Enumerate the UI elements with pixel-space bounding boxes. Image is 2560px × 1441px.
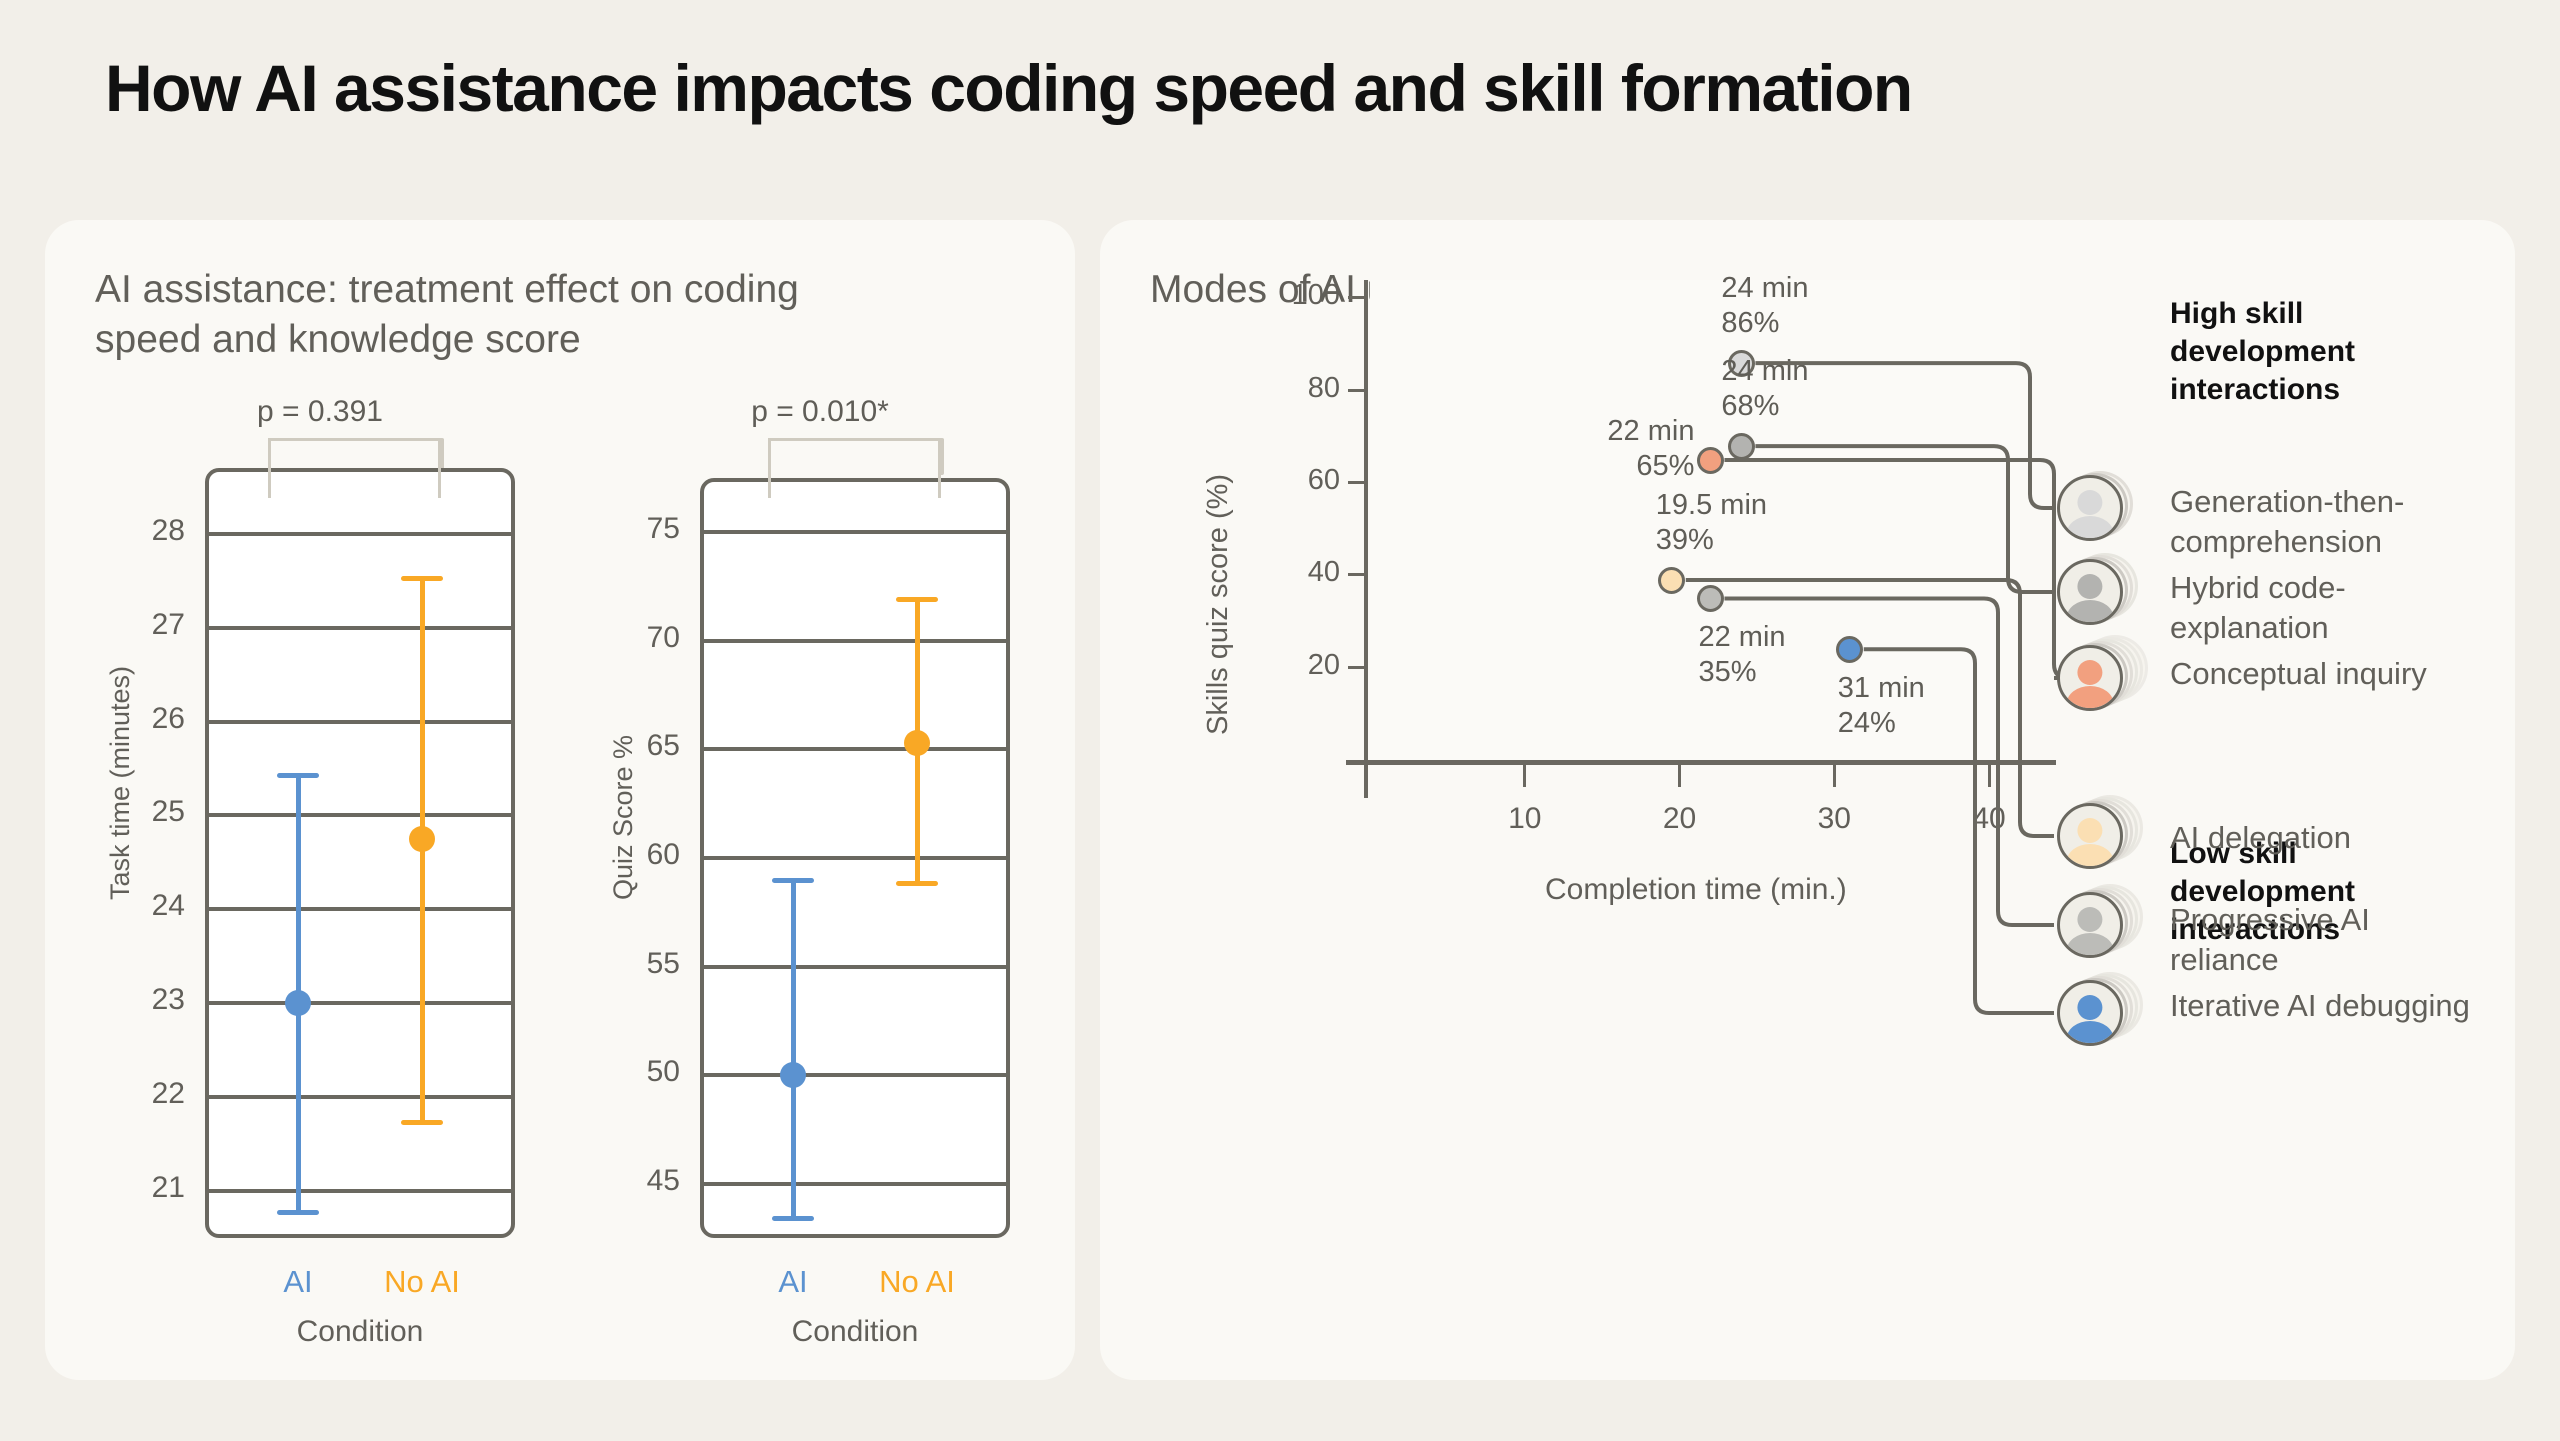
avatar-head [2077,660,2102,685]
avatar-body [2067,516,2114,541]
scatter-x-tick-mark [1833,765,1836,787]
infographic-page: How AI assistance impacts coding speed a… [0,0,2560,1441]
scatter-y-tick-label: 80 [1245,372,1340,405]
scatter-x-tick-label: 30 [1784,802,1884,836]
scatter-x-tick-mark [1678,765,1681,787]
gridline [700,747,1010,751]
task-time-x-axis-label: Condition [205,1315,515,1349]
person-icon [2057,645,2123,711]
y-axis-tick-label: 70 [590,621,680,655]
left-panel-title: AI assistance: treatment effect on codin… [95,265,855,365]
y-axis-tick-label: 55 [590,947,680,981]
scatter-y-tick-label: 40 [1245,556,1340,589]
scatter-x-tick-label: 20 [1630,802,1730,836]
scatter-point[interactable] [1836,636,1863,663]
y-axis-tick-label: 28 [95,514,185,548]
scatter-y-tick-label: 60 [1245,464,1340,497]
scatter-y-tick-mark [1348,573,1368,576]
condition-label-no-ai: No AI [332,1264,512,1300]
avatar [2057,892,2139,974]
avatar-head [2077,574,2102,599]
legend-label-conceptual-inquiry[interactable]: Conceptual inquiry [2170,654,2470,694]
scatter-point[interactable] [1697,585,1724,612]
scatter-x-tick-mark [1523,765,1526,787]
person-icon [2057,892,2123,958]
scatter-x-tick-label: 10 [1475,802,1575,836]
avatar [2057,803,2139,885]
y-axis-tick-label: 24 [95,889,185,923]
gridline [205,1095,515,1099]
y-axis-tick-label: 60 [590,838,680,872]
mean-point [780,1062,806,1088]
legend-label-hybrid-code-explanation[interactable]: Hybrid code-explanation [2170,568,2470,648]
y-axis-tick-label: 65 [590,729,680,763]
gridline [700,1073,1010,1077]
error-bar-cap [896,881,938,886]
avatar-body [2067,600,2114,625]
person-icon [2057,559,2123,625]
gridline [700,530,1010,534]
scatter-y-axis-label: Skills quiz score (%) [1202,474,1235,735]
avatar-head [2077,907,2102,932]
avatar-body [2067,686,2114,711]
bracket-arm [438,438,441,498]
person-icon [2057,980,2123,1046]
gridline [205,1189,515,1193]
y-axis-tick-label: 22 [95,1077,185,1111]
scatter-y-tick-label: 20 [1245,649,1340,682]
y-axis-tick-label: 75 [590,512,680,546]
pvalue-task-time: p = 0.391 [190,395,450,429]
scatter-x-axis-label: Completion time (min.) [1545,873,1847,907]
legend-heading-high-skill: High skill development interactions [2170,295,2420,409]
scatter-x-tick-label: 40 [1939,802,2039,836]
scatter-origin-tick [1365,765,1368,787]
y-axis-tick-label: 50 [590,1055,680,1089]
scatter-y-tick-mark [1348,296,1368,299]
gridline [205,626,515,630]
legend-label-generation-then-comprehension[interactable]: Generation-then-comprehension [2170,482,2470,562]
page-title: How AI assistance impacts coding speed a… [105,50,1912,126]
gridline [205,720,515,724]
error-bar-cap [401,576,443,581]
gridline [205,1001,515,1005]
scatter-y-tick-mark [1348,481,1368,484]
error-bar-cap [772,1216,814,1221]
avatar [2057,645,2139,727]
scatter-point-annotation: 22 min65% [1534,414,1694,484]
scatter-point[interactable] [1728,433,1755,460]
scatter-x-tick-mark [1988,765,1991,787]
pvalue-bracket-quiz-score [768,438,944,475]
legend-label-iterative-ai-debugging[interactable]: Iterative AI debugging [2170,986,2470,1026]
y-axis-tick-label: 23 [95,983,185,1017]
scatter-y-axis [1364,280,1368,798]
avatar-head [2077,490,2102,515]
scatter-y-tick-mark [1348,389,1368,392]
person-icon [2057,475,2123,541]
condition-label-no-ai: No AI [827,1264,1007,1300]
y-axis-tick-label: 26 [95,702,185,736]
legend-label-progressive-ai-reliance[interactable]: Progressive AI reliance [2170,900,2470,980]
error-bar-line [791,878,796,1221]
scatter-point-annotation: 19.5 min39% [1656,488,1767,558]
y-axis-tick-label: 45 [590,1164,680,1198]
scatter-point-annotation: 31 min24% [1838,671,1925,741]
gridline [700,1182,1010,1186]
pvalue-quiz-score: p = 0.010* [680,395,960,429]
bracket-arm [938,438,941,498]
legend-label-ai-delegation[interactable]: AI delegation [2170,818,2470,858]
bracket-arm [268,438,271,498]
mean-point [904,730,930,756]
avatar [2057,559,2139,641]
gridline [205,813,515,817]
y-axis-tick-label: 21 [95,1171,185,1205]
avatar-body [2067,933,2114,958]
bracket-arm [768,438,771,498]
gridline [700,639,1010,643]
quiz-score-x-axis-label: Condition [700,1315,1010,1349]
avatar-body [2067,844,2114,869]
avatar-head [2077,818,2102,843]
scatter-x-axis [1346,760,2056,765]
scatter-point[interactable] [1697,447,1724,474]
scatter-point-annotation: 24 min68% [1721,354,1808,424]
error-bar-cap [772,878,814,883]
gridline [205,907,515,911]
avatar-head [2077,995,2102,1020]
error-bar-cap [401,1120,443,1125]
task-time-plot-area [205,468,515,1238]
avatar [2057,475,2139,557]
gridline [700,856,1010,860]
avatar [2057,980,2139,1062]
person-icon [2057,803,2123,869]
error-bar-cap [277,1210,319,1215]
scatter-point[interactable] [1658,567,1685,594]
error-bar-cap [896,597,938,602]
error-bar-cap [277,773,319,778]
mean-point [409,826,435,852]
scatter-point-annotation: 22 min35% [1698,620,1785,690]
avatar-body [2067,1021,2114,1046]
y-axis-tick-label: 25 [95,795,185,829]
scatter-y-tick-mark [1348,666,1368,669]
scatter-y-tick-label: 100 [1245,279,1340,312]
gridline [700,965,1010,969]
y-axis-tick-label: 27 [95,608,185,642]
scatter-point-annotation: 24 min86% [1721,271,1808,341]
gridline [205,532,515,536]
